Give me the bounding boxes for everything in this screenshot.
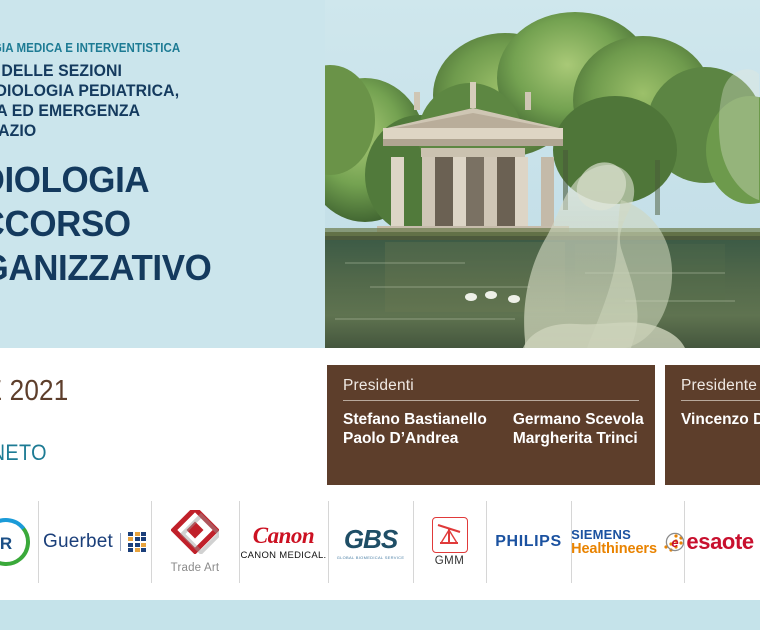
headline-line-3: ORGANIZZATIVO bbox=[0, 246, 337, 290]
president-name: Vincenzo Da bbox=[681, 410, 760, 429]
sponsor-gmm[interactable]: GMM bbox=[413, 487, 486, 597]
president-name: Paolo D’Andrea bbox=[343, 429, 487, 448]
sponsor-trade-art[interactable]: Trade Art bbox=[151, 487, 239, 597]
president-name: Margherita Trinci bbox=[513, 429, 644, 448]
sponsor-esaote[interactable]: e esaote e eb bbox=[684, 487, 760, 597]
event-venue: O VENETO bbox=[0, 440, 248, 466]
guerbet-wordmark: Guerbet bbox=[43, 531, 113, 553]
sponsor-canon-medical[interactable]: Canon CANON MEDICAL. bbox=[239, 487, 328, 597]
event-date: BRE 2021 bbox=[0, 375, 254, 408]
sponsor-strip: R Guerbet bbox=[0, 487, 760, 597]
esaote-wordmark: esaote bbox=[686, 529, 753, 555]
header-photo bbox=[325, 0, 760, 348]
panel-divider bbox=[681, 400, 760, 401]
canon-medical-label: CANON MEDICAL. bbox=[240, 550, 326, 561]
event-headline: RADIOLOGIA SOCCORSO ORGANIZZATIVO bbox=[0, 158, 337, 290]
sponsor-philips[interactable]: PHILIPS bbox=[486, 487, 571, 597]
svg-text:R: R bbox=[0, 534, 12, 553]
siemens-wordmark: SIEMENS bbox=[571, 527, 657, 542]
president-name: Stefano Bastianello bbox=[343, 410, 487, 429]
canon-wordmark: Canon bbox=[240, 523, 326, 549]
gmm-logo-icon bbox=[432, 517, 468, 553]
gbs-wordmark: GBS bbox=[337, 524, 405, 555]
headline-line-1: RADIOLOGIA bbox=[0, 158, 337, 202]
panel-divider bbox=[343, 400, 639, 401]
presidenti-panel: Presidenti Stefano Bastianello Paolo D’A… bbox=[327, 365, 655, 485]
presidente-onorario-column-1: Vincenzo Da bbox=[681, 410, 760, 429]
svg-text:e: e bbox=[672, 535, 679, 550]
presidente-onorario-title: Presidente C bbox=[681, 377, 760, 400]
president-name: Germano Scevola bbox=[513, 410, 644, 429]
guerbet-grid-icon bbox=[128, 532, 146, 553]
philips-wordmark: PHILIPS bbox=[495, 533, 561, 551]
event-subtitle: UNTO DELLE SEZIONI A, RADIOLOGIA PEDIATR… bbox=[0, 61, 287, 141]
guerbet-divider bbox=[120, 533, 121, 551]
esaote-e-icon: e bbox=[665, 532, 685, 552]
sponsor-sirm[interactable]: R bbox=[0, 487, 38, 597]
subtitle-line-1: UNTO DELLE SEZIONI bbox=[0, 61, 287, 81]
society-name: DIOLOGIA MEDICA E INTERVENTISTICA bbox=[0, 41, 269, 55]
presidente-onorario-panel: Presidente C Vincenzo Da bbox=[665, 365, 760, 485]
gmm-wordmark: GMM bbox=[432, 555, 468, 567]
presidenti-column-1: Stefano Bastianello Paolo D’Andrea bbox=[343, 410, 487, 448]
healthineers-wordmark: Healthineers bbox=[571, 541, 657, 557]
subtitle-line-2: A, RADIOLOGIA PEDIATRICA, bbox=[0, 81, 287, 101]
sponsor-guerbet[interactable]: Guerbet bbox=[38, 487, 151, 597]
trade-art-logo-icon bbox=[171, 510, 219, 554]
bottom-color-band bbox=[0, 600, 760, 630]
photo-illustration bbox=[325, 0, 760, 348]
subtitle-line-4: ALE LAZIO bbox=[0, 121, 287, 141]
presidenti-column-2: Germano Scevola Margherita Trinci bbox=[513, 410, 644, 448]
subtitle-line-3: GENZA ED EMERGENZA bbox=[0, 101, 287, 121]
trade-art-wordmark: Trade Art bbox=[171, 562, 220, 574]
headline-line-2: SOCCORSO bbox=[0, 202, 337, 246]
sirm-logo-icon: R bbox=[0, 516, 32, 568]
presidenti-names: Stefano Bastianello Paolo D’Andrea Germa… bbox=[343, 410, 639, 448]
presidenti-title: Presidenti bbox=[343, 377, 639, 400]
gbs-tagline: GLOBAL BIOMEDICAL SERVICE bbox=[337, 555, 405, 560]
sponsor-gbs[interactable]: GBS GLOBAL BIOMEDICAL SERVICE bbox=[328, 487, 413, 597]
presidente-onorario-names: Vincenzo Da bbox=[681, 410, 760, 429]
conference-poster: DIOLOGIA MEDICA E INTERVENTISTICA UNTO D… bbox=[0, 0, 760, 630]
